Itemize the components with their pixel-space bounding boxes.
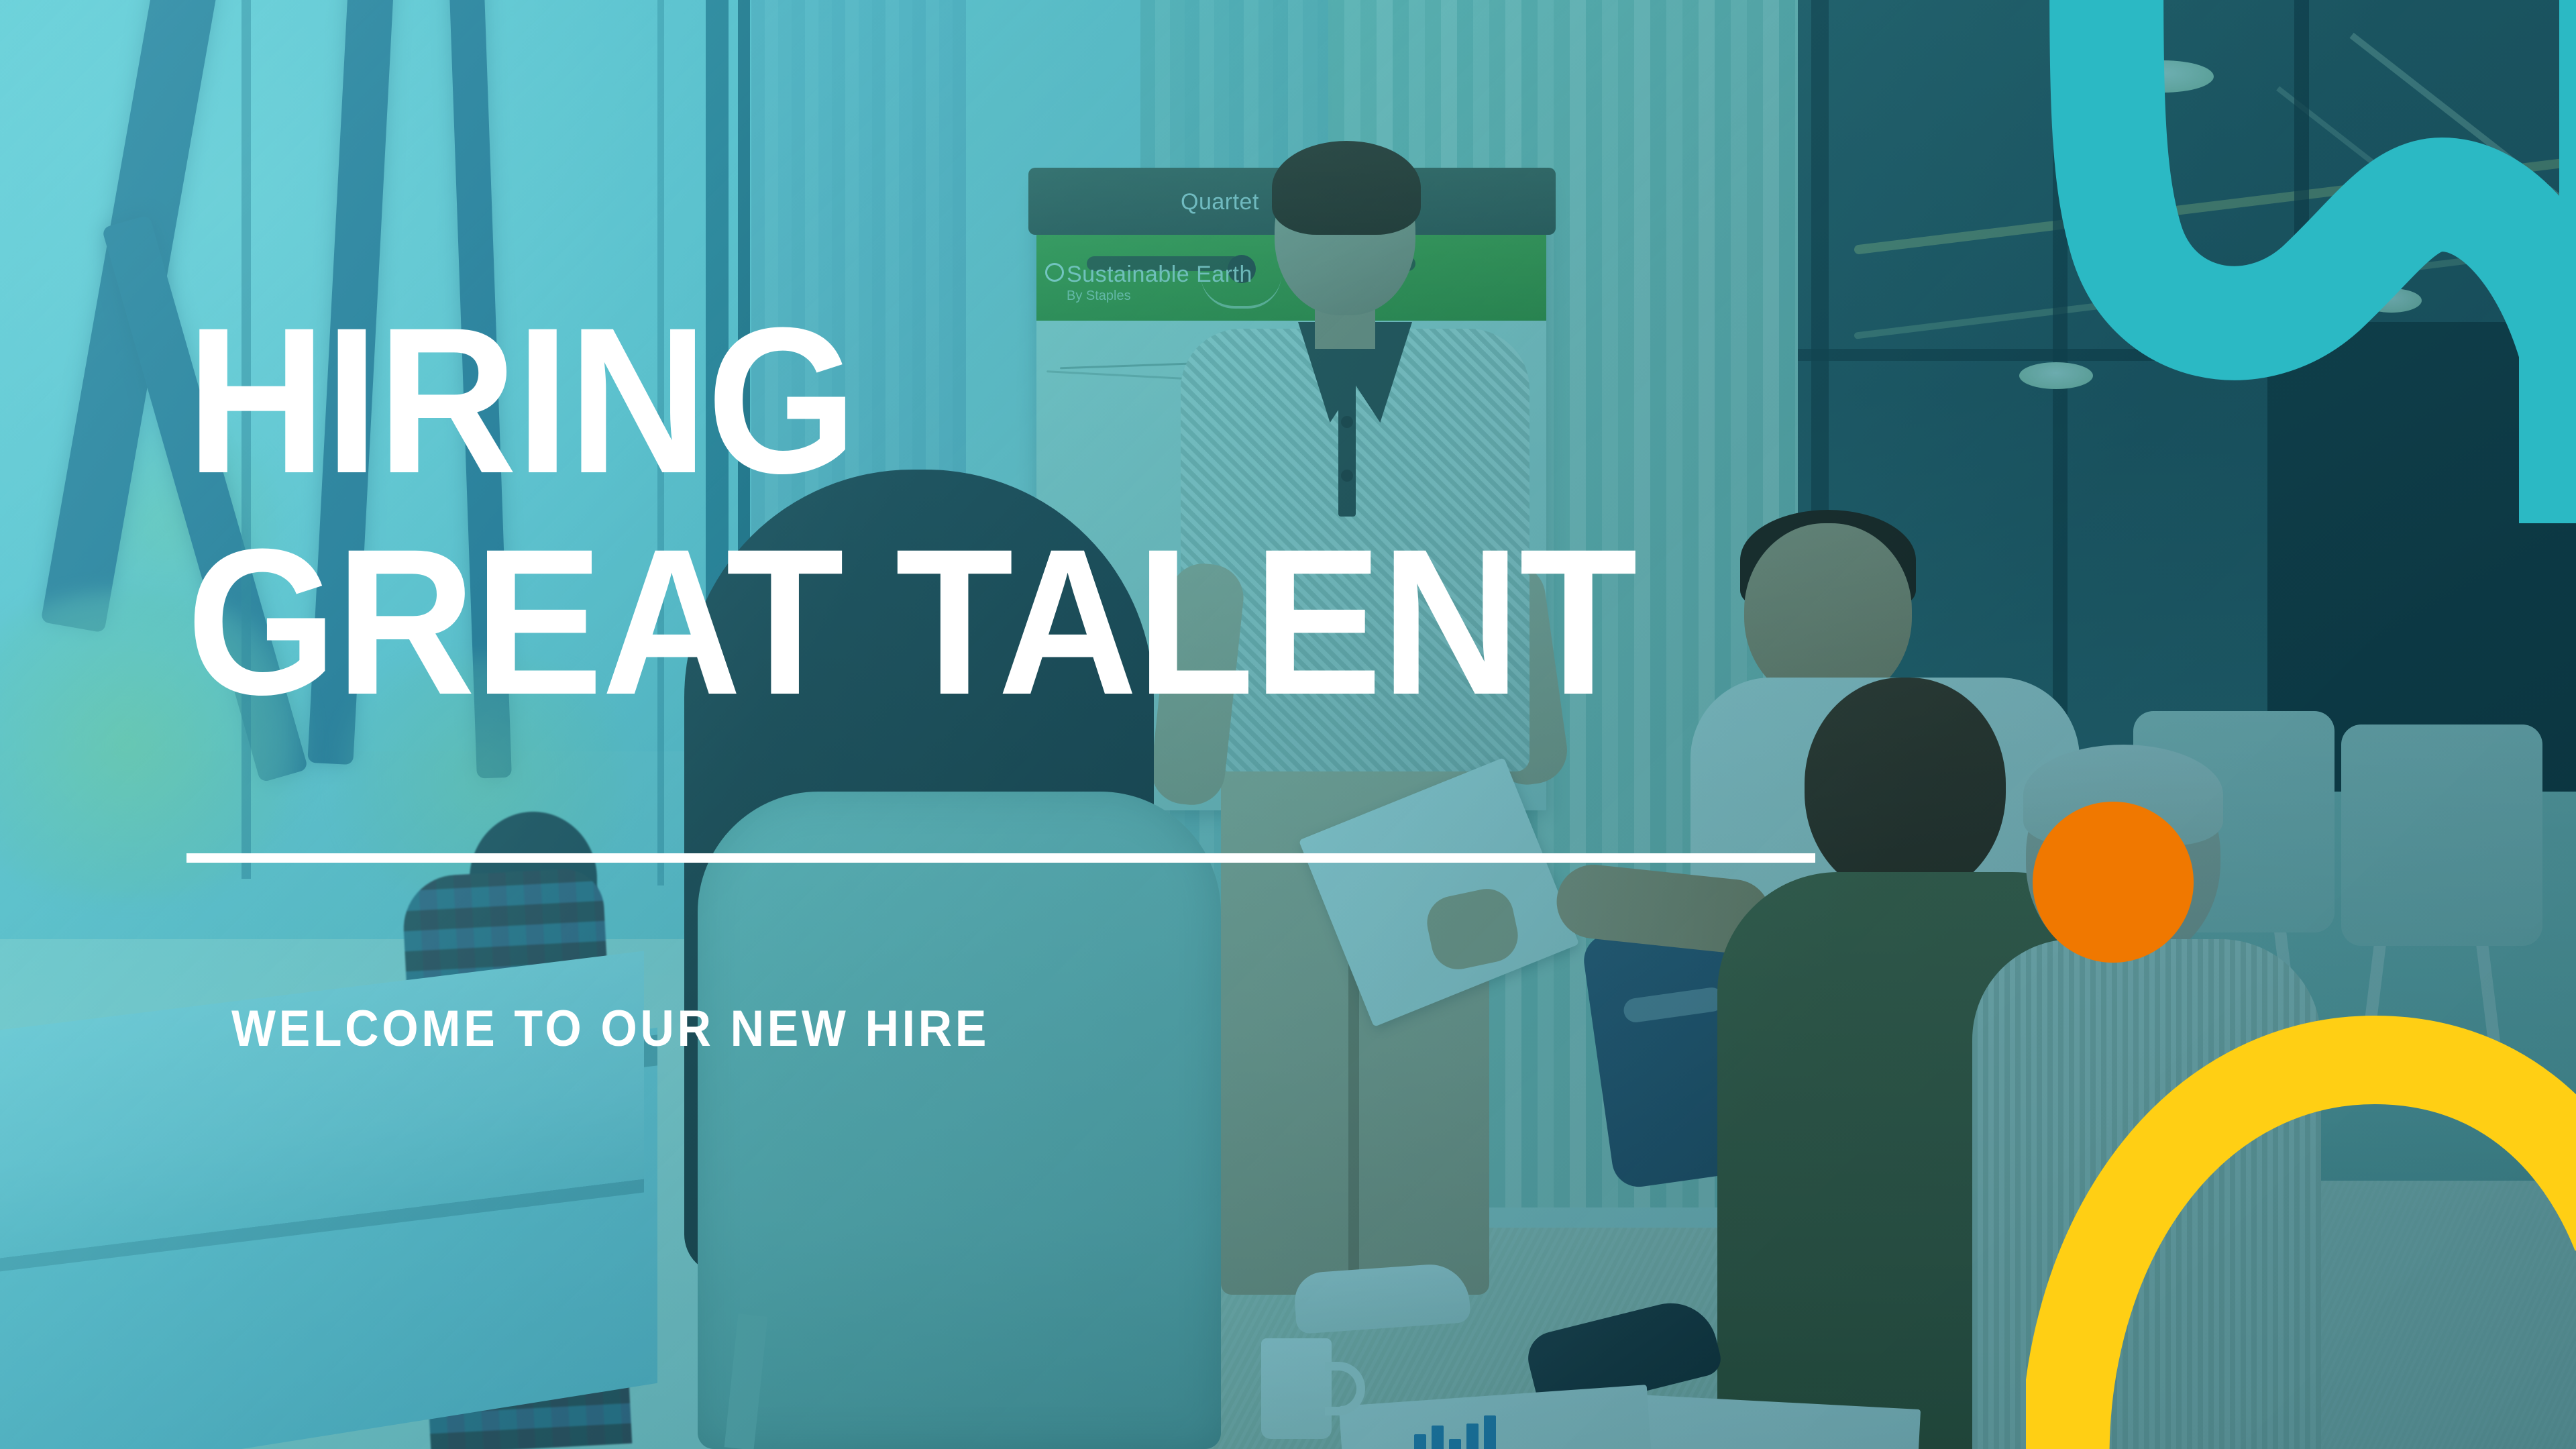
page-title-line-1: HIRING bbox=[186, 315, 856, 486]
hiring-banner: Sustainable Earth By Staples Quartet bbox=[0, 0, 2576, 1449]
page-title-line-2: GREAT TALENT bbox=[186, 537, 1636, 707]
banner-content: HIRING GREAT TALENT WELCOME TO OUR NEW H… bbox=[0, 0, 2576, 1449]
banner-subtitle: WELCOME TO OUR NEW HIRE bbox=[231, 1000, 989, 1058]
title-divider-rule bbox=[186, 853, 1815, 863]
